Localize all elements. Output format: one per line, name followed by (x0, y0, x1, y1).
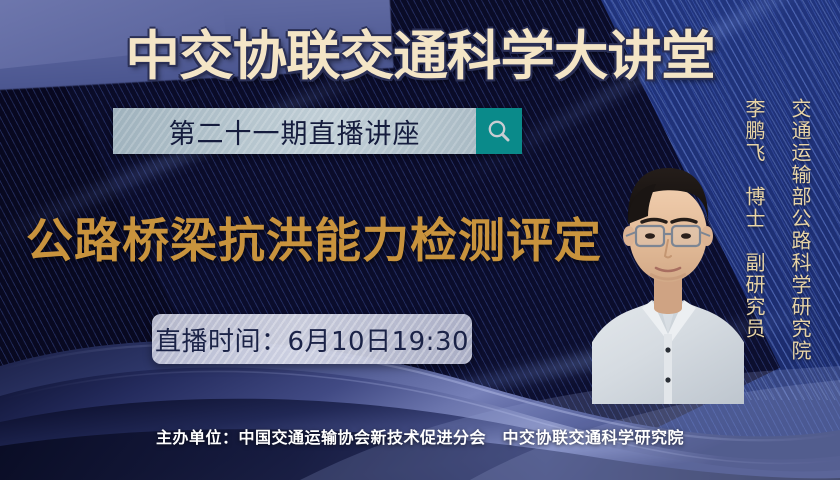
speaker-name-title: 李鹏飞 博士 副研究员 (740, 98, 769, 340)
subtitle-label: 第二十一期直播讲座 (169, 112, 421, 151)
speaker-organization: 交通运输部公路科学研究院 (786, 98, 815, 362)
search-icon (486, 118, 512, 144)
organizer-footer: 主办单位：中国交通运输协会新技术促进分会 中交协联交通科学研究院 (0, 424, 840, 448)
lecture-headline: 公路桥梁抗洪能力检测评定 (26, 202, 602, 271)
page-title: 中交协联交通科学大讲堂 (0, 14, 840, 90)
subtitle-bar: 第二十一期直播讲座 (113, 108, 476, 154)
poster-canvas: 中交协联交通科学大讲堂 第二十一期直播讲座 公路桥梁抗洪能力检测评定 直播时间：… (0, 0, 840, 480)
broadcast-time-label: 直播时间：6月10日19:30 (155, 321, 469, 358)
broadcast-time-badge: 直播时间：6月10日19:30 (152, 314, 472, 364)
subtitle-banner: 第二十一期直播讲座 (113, 108, 522, 154)
speaker-photo (592, 128, 744, 404)
search-button[interactable] (476, 108, 522, 154)
